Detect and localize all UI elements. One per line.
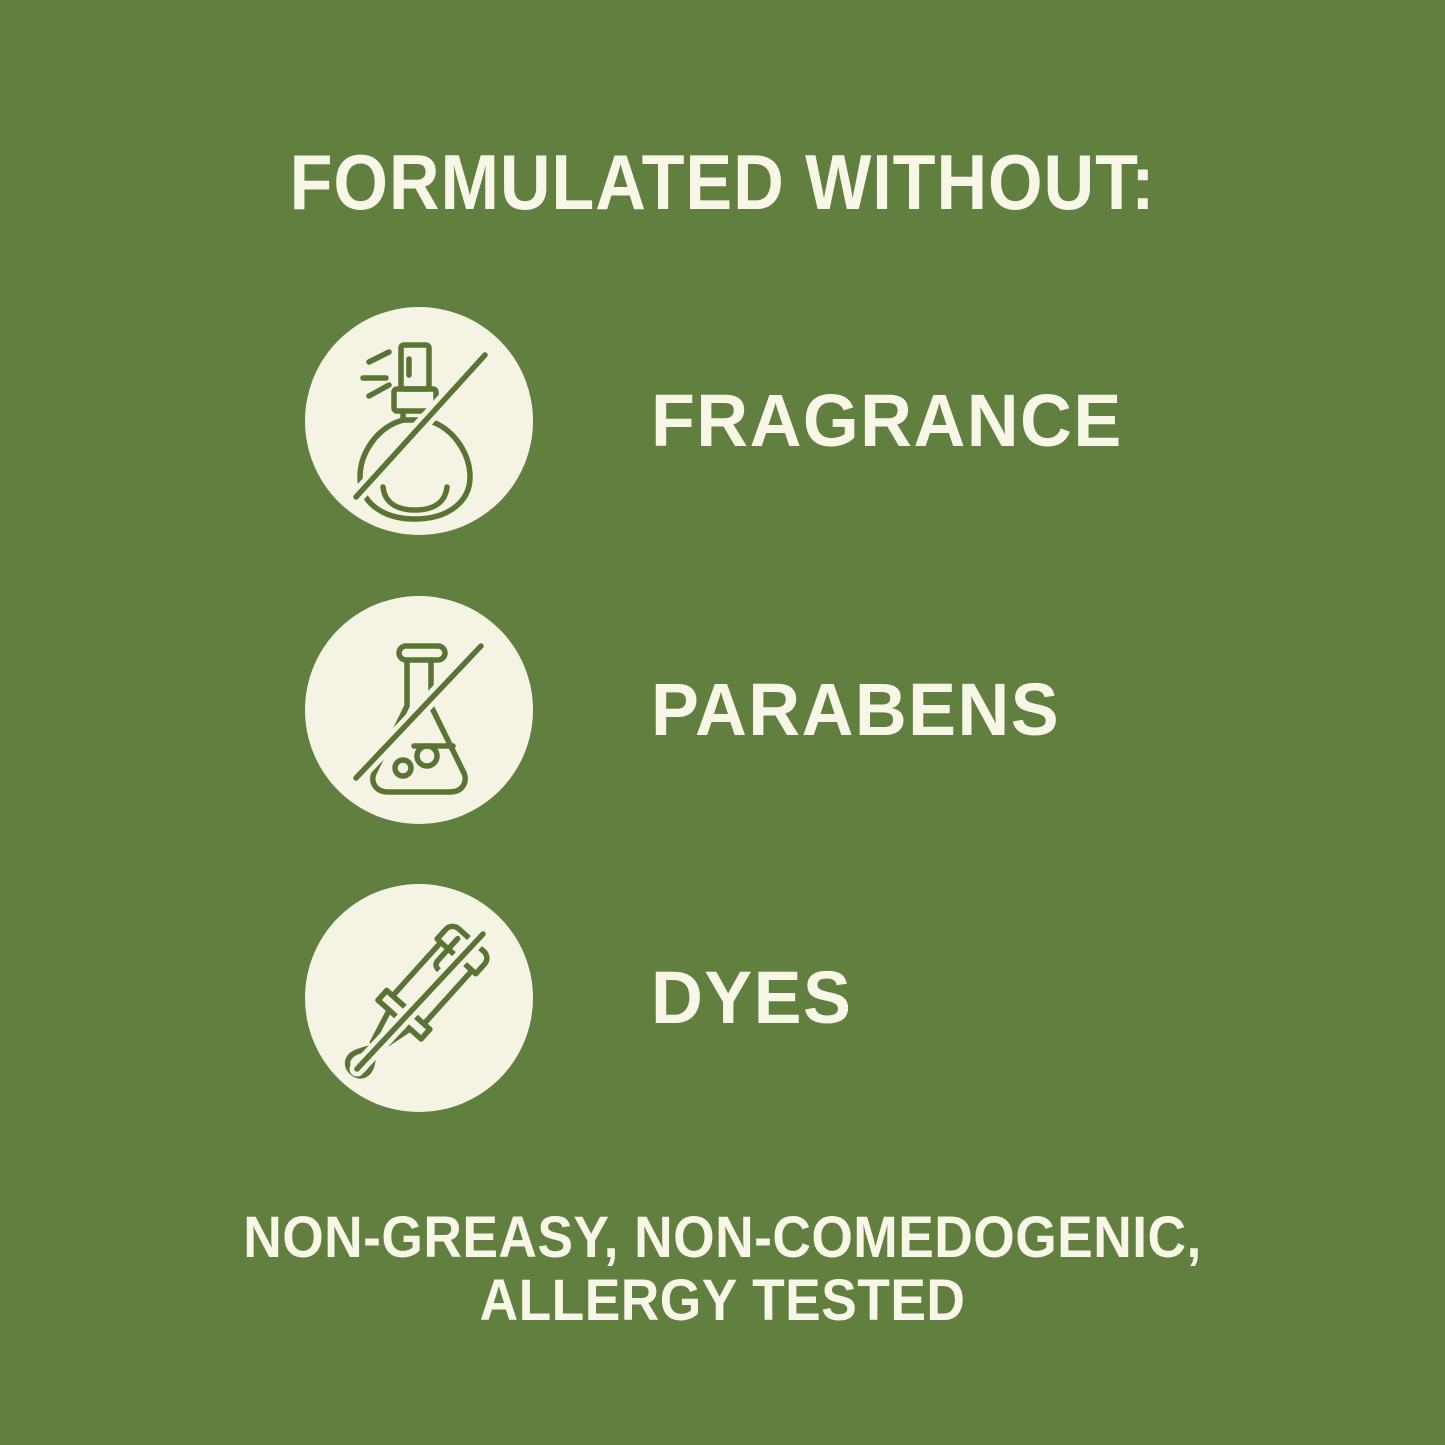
badge-parabens: [305, 596, 533, 824]
badge-dyes: [305, 884, 533, 1112]
badge-fragrance: [305, 307, 533, 535]
list-item-label-parabens: PARABENS: [651, 673, 1060, 747]
list-item-dyes: DYES: [305, 884, 1305, 1112]
list-item-label-fragrance: FRAGRANCE: [651, 384, 1123, 458]
list-item-fragrance: FRAGRANCE: [305, 307, 1305, 535]
footer-line-2: ALLERGY TESTED: [58, 1269, 1387, 1332]
footer-claims: NON-GREASY, NON-COMEDOGENIC, ALLERGY TES…: [58, 1206, 1387, 1332]
footer-line-1: NON-GREASY, NON-COMEDOGENIC,: [58, 1206, 1387, 1269]
formulated-without-panel: FORMULATED WITHOUT:: [0, 0, 1445, 1445]
list-item-label-dyes: DYES: [651, 961, 852, 1035]
list-item-parabens: PARABENS: [305, 596, 1305, 824]
no-fragrance-spray-bottle-icon: [305, 307, 533, 535]
no-dyes-dropper-icon: [305, 884, 533, 1112]
no-parabens-flask-icon: [305, 596, 533, 824]
